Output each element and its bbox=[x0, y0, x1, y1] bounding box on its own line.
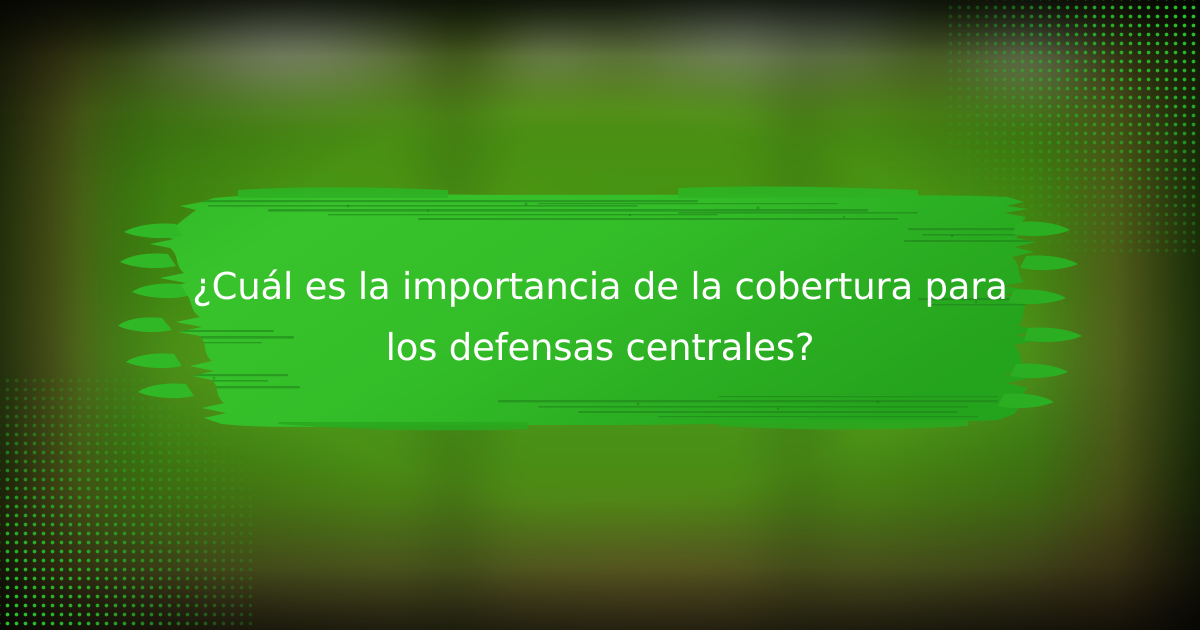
social-card: ¿Cuál es la importancia de la cobertura … bbox=[0, 0, 1200, 630]
page-title: ¿Cuál es la importancia de la cobertura … bbox=[170, 256, 1030, 378]
